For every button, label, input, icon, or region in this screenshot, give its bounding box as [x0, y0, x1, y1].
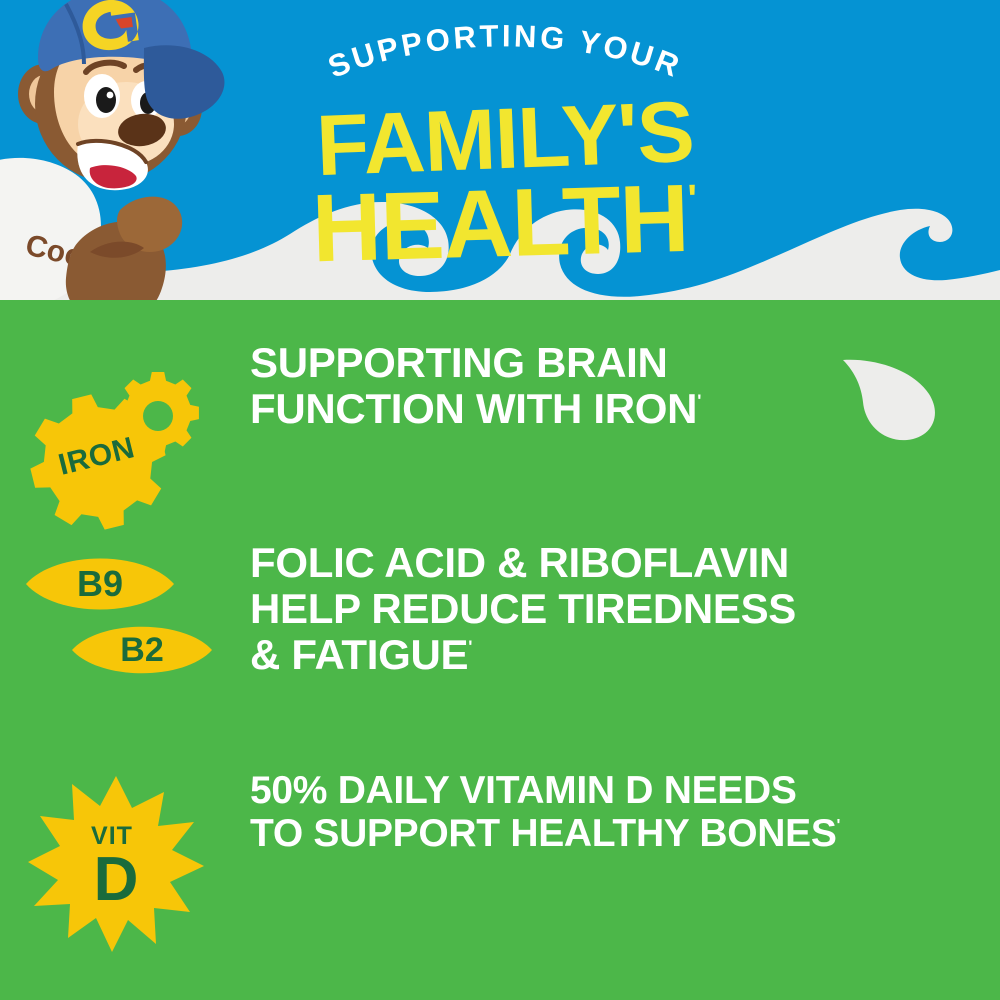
promo-poster: SUPPORTING YOUR FAMILY'S HEALTH' Coco [0, 0, 1000, 1000]
leaf-b9-label: B9 [77, 563, 123, 604]
benefit-text-vitamin-d: 50% DAILY VITAMIN D NEEDS TO SUPPORT HEA… [250, 770, 1000, 856]
headline-line-2: HEALTH' [254, 173, 756, 275]
benefit-text-b-vitamins: FOLIC ACID & RIBOFLAVIN HELP REDUCE TIRE… [250, 540, 1000, 679]
benefit-icon-cell: VIT D [0, 770, 250, 946]
benefits-section: IRON SUPPORTING BRAIN FUNCTION WITH IRON… [0, 300, 1000, 1000]
svg-text:SUPPORTING YOUR: SUPPORTING YOUR [323, 18, 687, 84]
benefit-row-vitamin-d: VIT D 50% DAILY VITAMIN D NEEDS TO SUPPO… [0, 770, 1000, 946]
benefit-row-b-vitamins: B9 B2 FOLIC ACID & RIBOFLAVIN HELP REDUC… [0, 540, 1000, 696]
mascot-eye [96, 87, 116, 113]
header-band: SUPPORTING YOUR FAMILY'S HEALTH' Coco [0, 0, 1000, 300]
benefit-superscript: ' [837, 816, 841, 834]
leaf-b2-icon: B2 [72, 627, 212, 674]
benefit-line: & FATIGUE' [250, 632, 1000, 678]
leaf-b9-icon: B9 [26, 559, 174, 610]
benefit-text-iron: SUPPORTING BRAIN FUNCTION WITH IRON' [250, 340, 1000, 432]
arch-tagline-text: SUPPORTING YOUR [323, 18, 687, 84]
vitamin-d-label-large: D [94, 845, 139, 914]
benefit-line: TO SUPPORT HEALTHY BONES' [250, 813, 1000, 856]
headline-line-2-text: HEALTH [311, 165, 690, 282]
benefit-icon-cell: B9 B2 [0, 540, 250, 696]
benefit-superscript: ' [697, 390, 701, 410]
benefit-line: FOLIC ACID & RIBOFLAVIN [250, 540, 1000, 586]
benefit-row-iron: IRON SUPPORTING BRAIN FUNCTION WITH IRON… [0, 340, 1000, 516]
benefit-line: SUPPORTING BRAIN [250, 340, 1000, 386]
benefit-line: HELP REDUCE TIREDNESS [250, 586, 1000, 632]
leaf-b2-label: B2 [120, 631, 163, 669]
headline-superscript: ' [687, 175, 698, 221]
benefit-icon-cell: IRON [0, 340, 250, 516]
mascot-coco: Coco [0, 0, 234, 300]
mascot-cap-brim [144, 45, 225, 119]
iron-gears-icon: IRON [20, 346, 230, 516]
vitamin-d-sun-icon: VIT D [20, 776, 230, 946]
headline-group: SUPPORTING YOUR FAMILY'S HEALTH' [255, 28, 755, 278]
benefit-line: 50% DAILY VITAMIN D NEEDS [250, 770, 1000, 813]
benefit-superscript: ' [468, 637, 472, 657]
benefit-line: FUNCTION WITH IRON' [250, 386, 1000, 432]
b-vitamins-leaf-icon: B9 B2 [20, 546, 230, 696]
